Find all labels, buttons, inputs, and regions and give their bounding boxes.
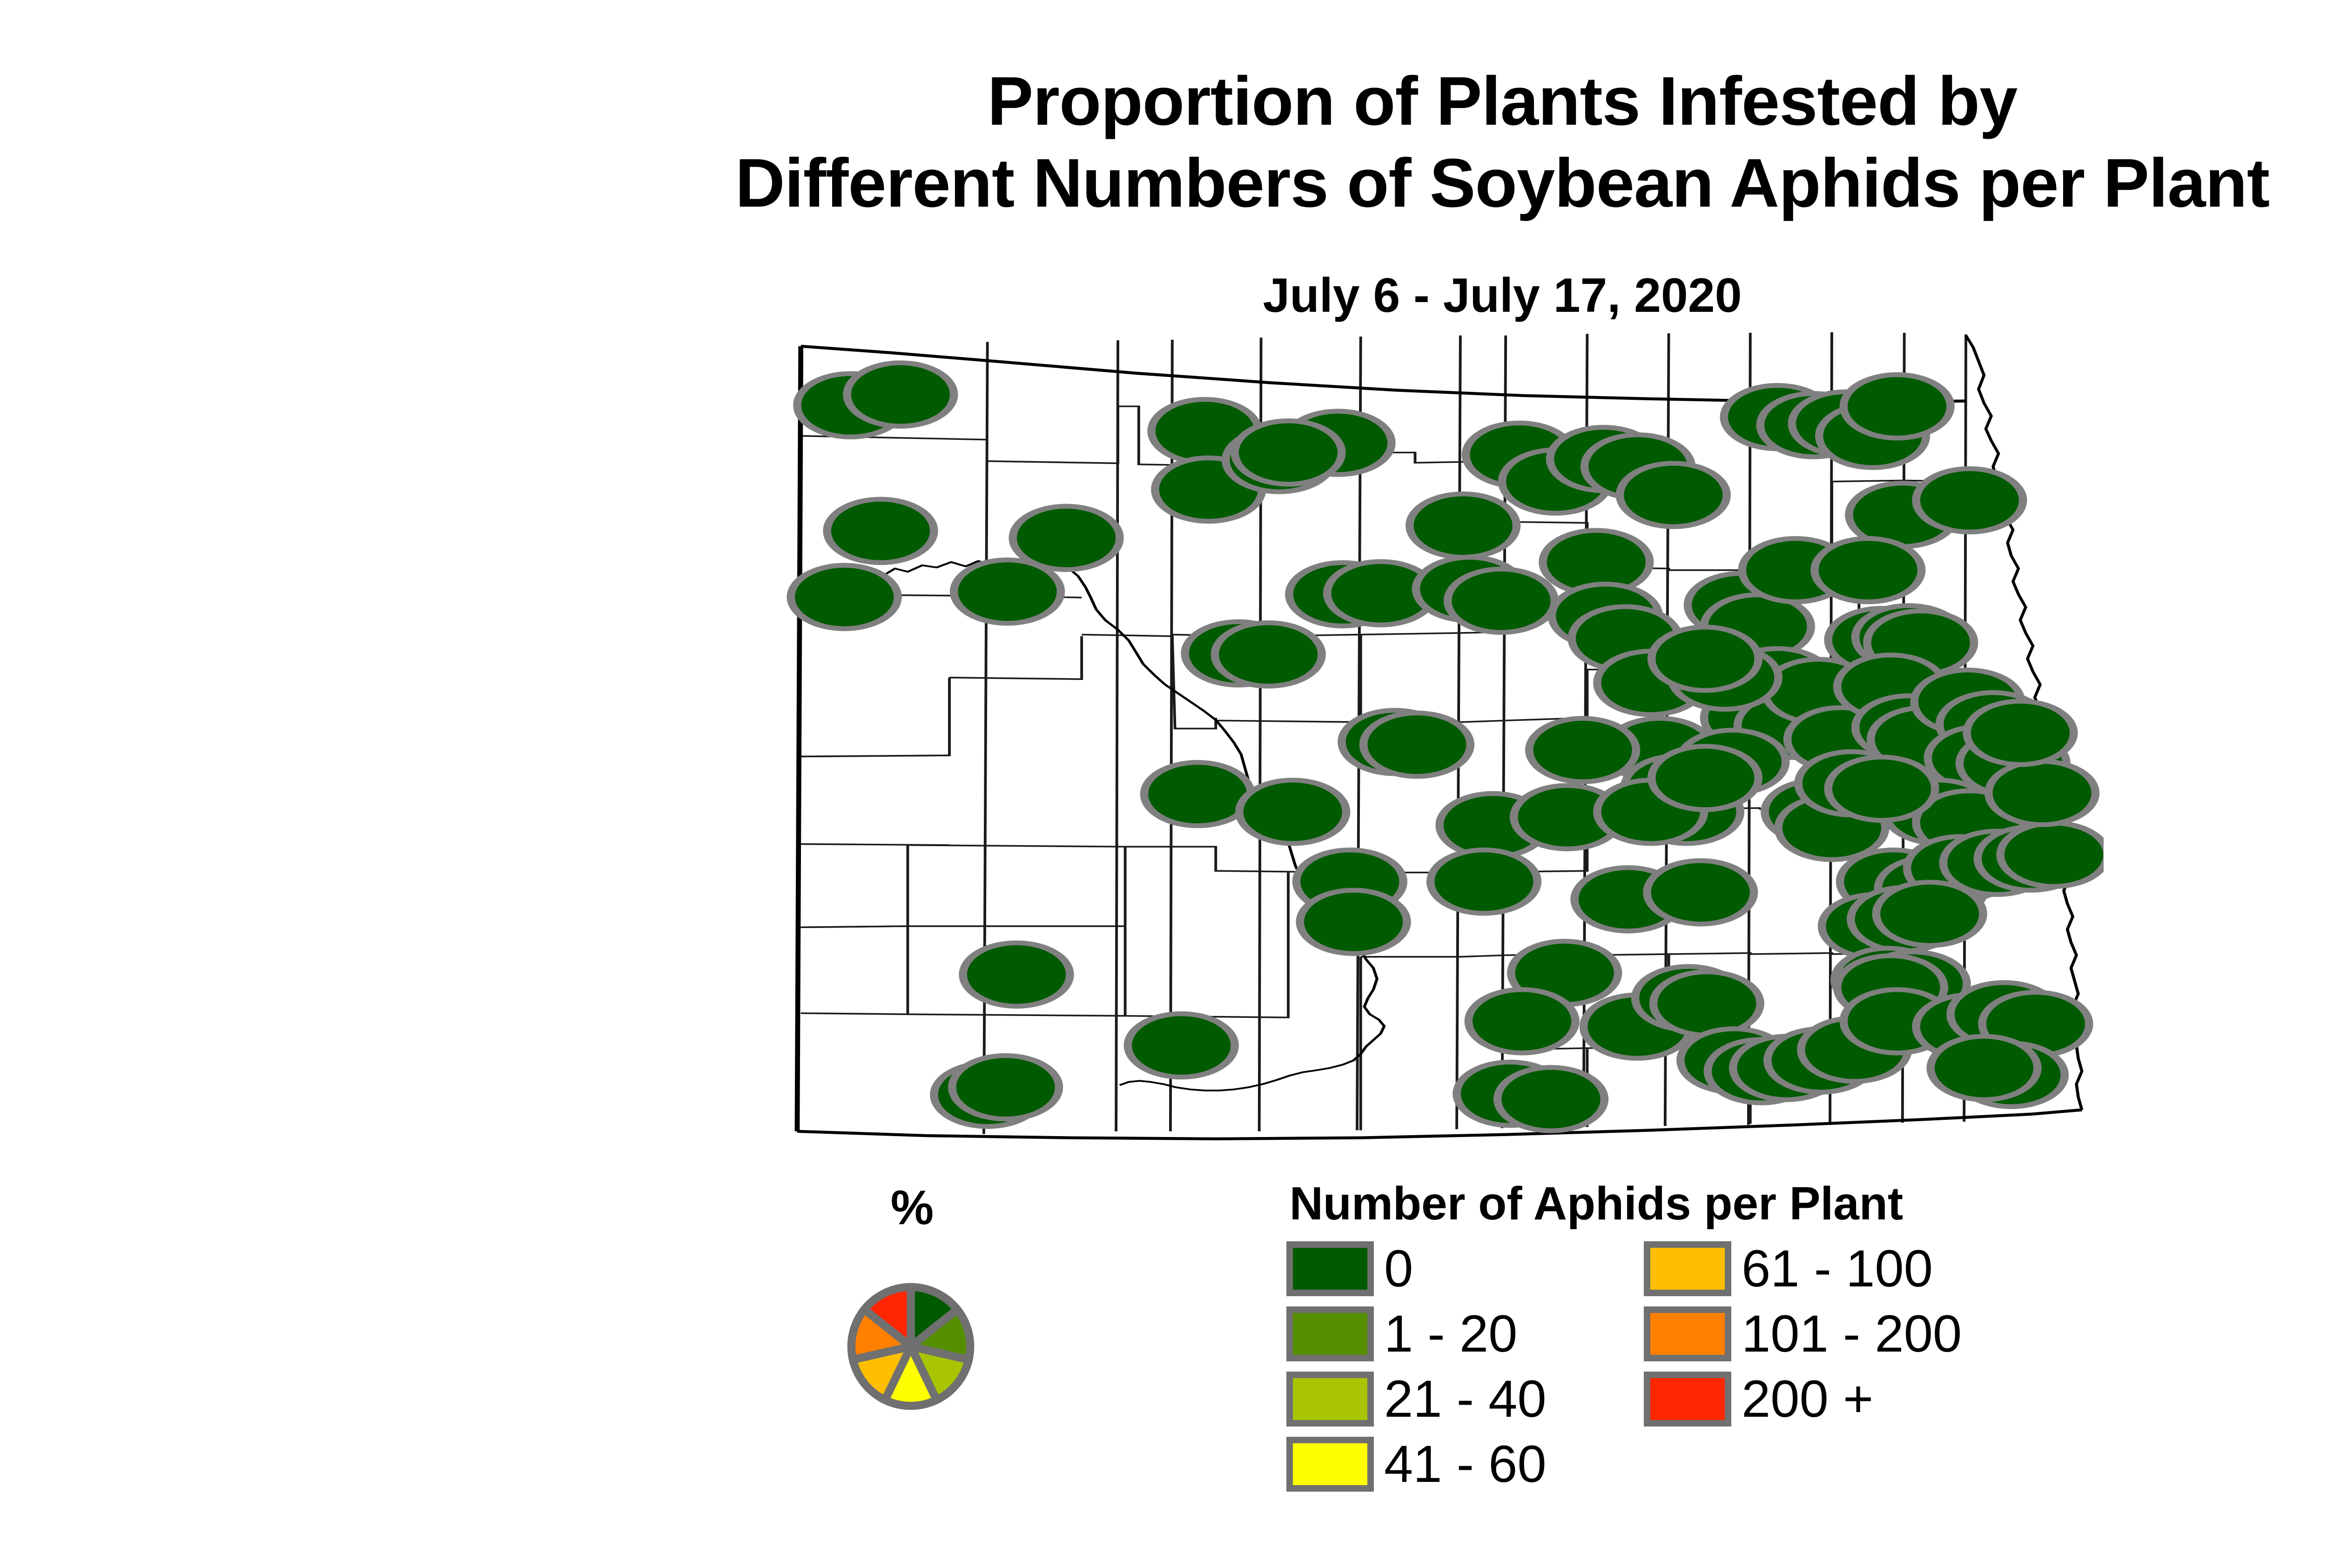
pie-slice: [1410, 494, 1517, 557]
north-dakota-map: [745, 326, 2104, 1164]
pie-slice: [1652, 746, 1759, 809]
pie-slice: [1013, 506, 1120, 570]
field-pie-marker[interactable]: [2000, 823, 2104, 886]
pie-slice: [1843, 375, 1950, 438]
map-svg: [745, 326, 2104, 1164]
pie-slice: [1431, 850, 1538, 913]
legend-title: Number of Aphids per Plant: [1280, 1178, 1913, 1229]
pie-slice: [1652, 627, 1759, 690]
field-pie-marker[interactable]: [1468, 989, 1575, 1053]
legend-swatch: [1286, 1306, 1374, 1361]
legend-item-label: 1 - 20: [1384, 1308, 1517, 1360]
field-pie-marker[interactable]: [1128, 1014, 1235, 1077]
field-pie-marker[interactable]: [1431, 850, 1538, 913]
field-pie-marker[interactable]: [1828, 757, 1935, 821]
legend-item[interactable]: 41 - 60: [1286, 1432, 1547, 1497]
field-pie-marker[interactable]: [1498, 1067, 1605, 1131]
field-pie-marker[interactable]: [1916, 469, 2023, 532]
percent-key: %: [791, 1173, 1033, 1461]
pie-slice: [1239, 780, 1346, 843]
field-pie-marker[interactable]: [847, 363, 954, 426]
field-pie-marker[interactable]: [1215, 623, 1322, 686]
pie-slice: [952, 1056, 1059, 1119]
pie-slice: [1448, 569, 1555, 633]
pie-slice: [1128, 1014, 1235, 1077]
pie-slice: [1967, 701, 2074, 765]
pie-slice: [1876, 882, 1983, 945]
legend-swatch: [1286, 1437, 1374, 1492]
legend-item[interactable]: 1 - 20: [1286, 1301, 1547, 1366]
legend-item-label: 41 - 60: [1384, 1438, 1547, 1490]
pie-slice: [847, 363, 954, 426]
title-line-2: Different Numbers of Soybean Aphids per …: [0, 142, 2327, 224]
field-pie-marker[interactable]: [1815, 538, 1922, 602]
field-pie-marker[interactable]: [1364, 713, 1471, 776]
field-pie-marker[interactable]: [1652, 627, 1759, 690]
percent-key-pie: [843, 1279, 978, 1414]
legend-column-left: 01 - 2021 - 4041 - 60: [1286, 1236, 1547, 1497]
field-pie-marker[interactable]: [1654, 972, 1761, 1035]
pie-slice: [827, 499, 934, 563]
pie-slice: [1144, 762, 1251, 826]
field-pie-marker[interactable]: [1235, 421, 1342, 484]
title-line-1: Proportion of Plants Infested by: [0, 61, 2327, 142]
field-pie-marker[interactable]: [1239, 780, 1346, 843]
pie-slice: [2000, 823, 2104, 886]
field-pie-marker[interactable]: [952, 1056, 1059, 1119]
pie-slice: [1468, 989, 1575, 1053]
aphid-map-figure: Proportion of Plants Infested by Differe…: [0, 0, 2327, 1568]
legend-item[interactable]: 61 - 100: [1644, 1236, 1962, 1301]
field-pie-marker[interactable]: [827, 499, 934, 563]
field-pie-marker[interactable]: [963, 943, 1070, 1006]
legend: Number of Aphids per Plant 01 - 2021 - 4…: [1280, 1173, 2034, 1499]
legend-item-label: 0: [1384, 1243, 1413, 1295]
pie-slice: [1300, 890, 1407, 954]
pie-slice: [1815, 538, 1922, 602]
legend-item-label: 21 - 40: [1384, 1373, 1547, 1425]
legend-swatch: [1286, 1372, 1374, 1427]
pie-slice: [1989, 761, 2096, 825]
field-pie-marker[interactable]: [1620, 463, 1727, 526]
field-pie-marker[interactable]: [1967, 701, 2074, 765]
field-pie-marker[interactable]: [1144, 762, 1251, 826]
legend-column-right: 61 - 100101 - 200200 +: [1644, 1236, 1962, 1432]
field-pie-marker[interactable]: [1647, 861, 1754, 924]
pie-slice: [1498, 1067, 1605, 1131]
legend-item[interactable]: 0: [1286, 1236, 1547, 1301]
figure-title: Proportion of Plants Infested by Differe…: [0, 61, 2327, 224]
legend-swatch: [1644, 1306, 1731, 1361]
pie-slice: [1647, 861, 1754, 924]
field-pie-marker[interactable]: [1930, 1036, 2038, 1100]
legend-item[interactable]: 101 - 200: [1644, 1301, 1962, 1366]
field-pie-marker[interactable]: [1300, 890, 1407, 954]
field-pie-marker[interactable]: [1876, 882, 1983, 945]
pie-slice: [791, 565, 898, 629]
field-pie-marker[interactable]: [1448, 569, 1555, 633]
legend-item-label: 61 - 100: [1742, 1243, 1933, 1295]
pie-slice: [1930, 1036, 2038, 1100]
legend-item-label: 200 +: [1742, 1373, 1873, 1425]
field-pie-marker[interactable]: [1843, 375, 1950, 438]
pie-slice: [1215, 623, 1322, 686]
field-pie-marker[interactable]: [1410, 494, 1517, 557]
legend-item[interactable]: 21 - 40: [1286, 1366, 1547, 1432]
field-pie-marker[interactable]: [1529, 718, 1636, 781]
legend-item[interactable]: 200 +: [1644, 1366, 1962, 1432]
pie-slice: [1529, 718, 1636, 781]
pie-slice: [1235, 421, 1342, 484]
pie-slice: [1916, 469, 2023, 532]
figure-subtitle: July 6 - July 17, 2020: [0, 268, 2327, 323]
pie-slice: [1654, 972, 1761, 1035]
pie-slice: [1620, 463, 1727, 526]
pie-slice: [963, 943, 1070, 1006]
pie-slice: [1364, 713, 1471, 776]
percent-key-label: %: [791, 1182, 1033, 1233]
pie-slice: [1828, 757, 1935, 821]
legend-swatch: [1286, 1241, 1374, 1296]
field-pie-marker[interactable]: [1013, 506, 1120, 570]
legend-swatch: [1644, 1372, 1731, 1427]
field-pie-marker[interactable]: [1652, 746, 1759, 809]
field-pie-marker[interactable]: [791, 565, 898, 629]
legend-swatch: [1644, 1241, 1731, 1296]
field-pie-marker[interactable]: [1989, 761, 2096, 825]
legend-item-label: 101 - 200: [1742, 1308, 1962, 1360]
